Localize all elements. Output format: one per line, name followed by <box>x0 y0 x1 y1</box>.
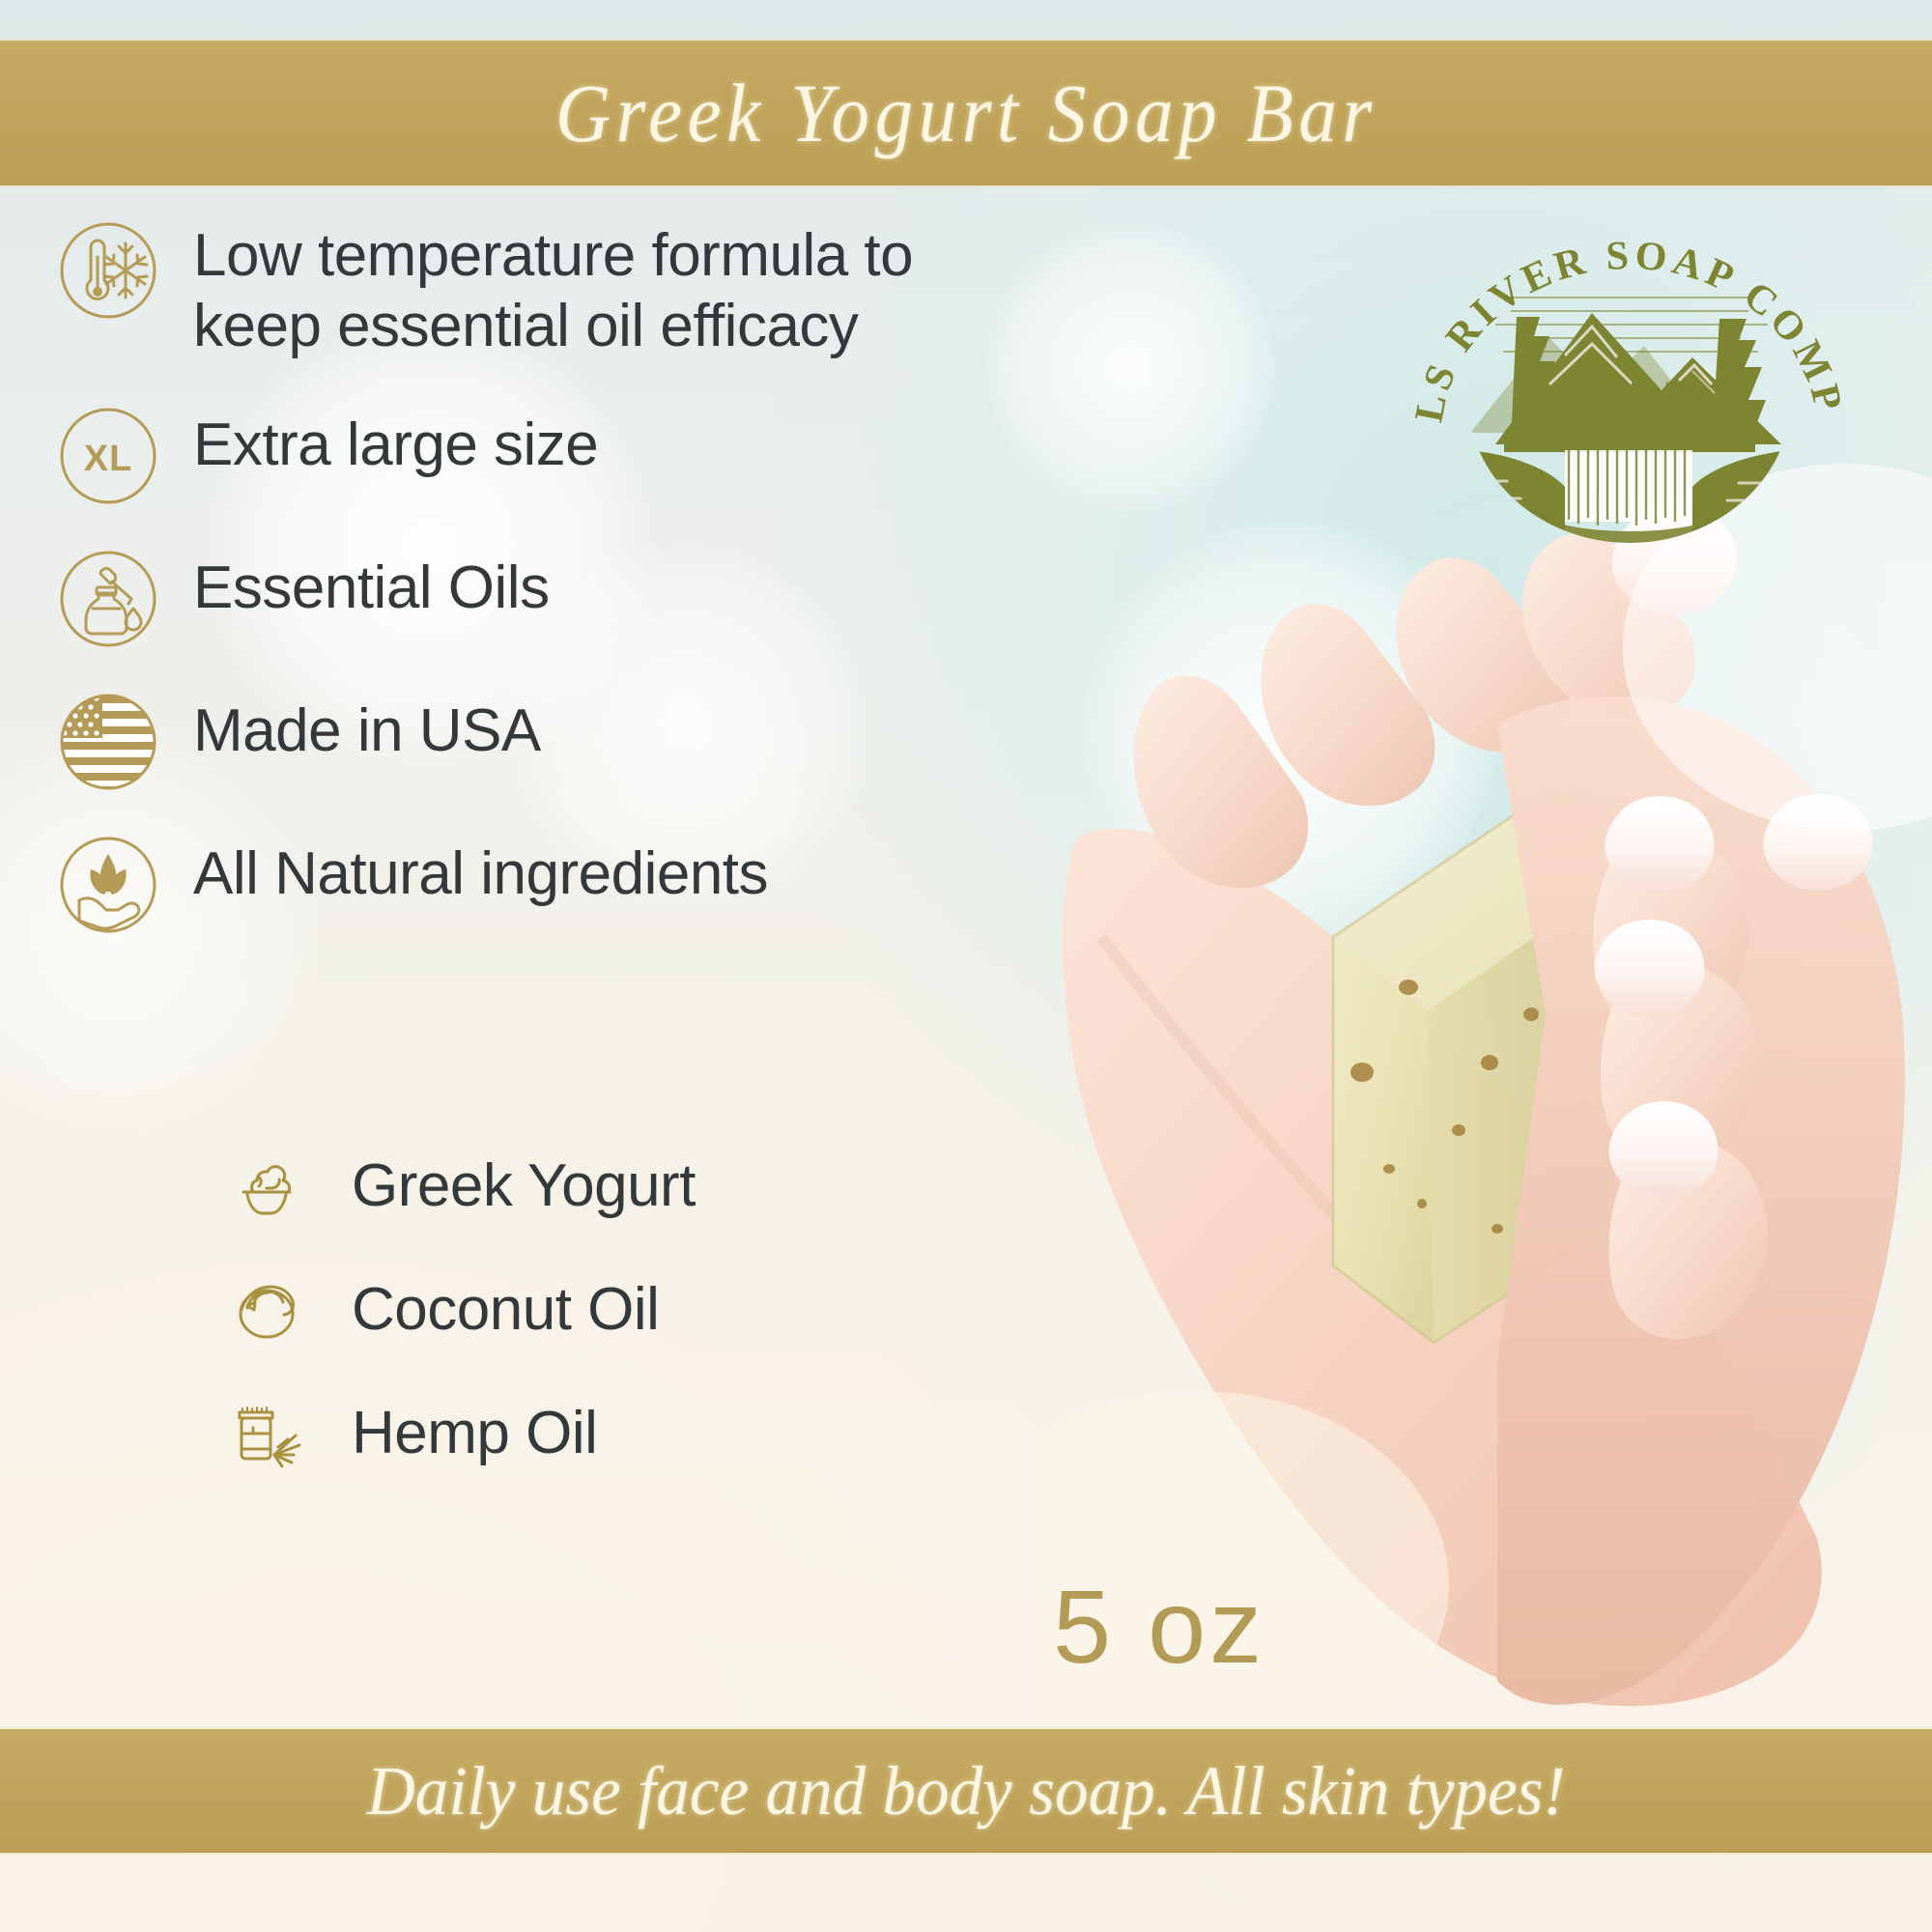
usa-flag-icon <box>58 692 158 792</box>
ingredient-label-coconut-oil: Coconut Oil <box>352 1280 659 1340</box>
xl-badge-text: XL <box>84 439 133 479</box>
xl-size-icon: XL <box>58 406 158 506</box>
ingredient-list: Greek Yogurt Coconut Oil <box>224 1144 1094 1515</box>
ingredient-item-coconut-oil: Coconut Oil <box>224 1267 1094 1352</box>
thermometer-snowflake-icon <box>58 220 158 321</box>
hemp-jar-icon <box>224 1391 309 1476</box>
coconut-icon <box>224 1267 309 1352</box>
product-infographic: Greek Yogurt Soap Bar <box>0 0 1932 1932</box>
feature-item-low-temperature: Low temperature formula to keep essentia… <box>58 220 1140 361</box>
feature-label-extra-large: Extra large size <box>193 406 598 480</box>
feature-item-made-in-usa: Made in USA <box>58 692 1140 792</box>
page-title: Greek Yogurt Soap Bar <box>555 65 1378 161</box>
feature-label-made-in-usa: Made in USA <box>193 692 541 766</box>
dropper-bottle-icon <box>58 549 158 649</box>
ingredient-label-greek-yogurt: Greek Yogurt <box>352 1156 696 1216</box>
feature-label-low-temperature: Low temperature formula to keep essentia… <box>193 220 913 361</box>
footer-tagline: Daily use face and body soap. All skin t… <box>367 1751 1566 1832</box>
product-photo-hands-holding-soap <box>1043 396 1932 1748</box>
feature-item-all-natural: All Natural ingredients <box>58 835 1140 935</box>
feature-label-all-natural: All Natural ingredients <box>193 835 768 909</box>
feature-item-extra-large: XL Extra large size <box>58 406 1140 506</box>
brand-logo: FALLS RIVER SOAP COMPANY <box>1403 191 1857 578</box>
feature-list: Low temperature formula to keep essentia… <box>58 220 1140 978</box>
feature-label-line1: Low temperature formula to <box>193 220 913 291</box>
ingredient-item-greek-yogurt: Greek Yogurt <box>224 1144 1094 1229</box>
feature-item-essential-oils: Essential Oils <box>58 549 1140 649</box>
ingredient-item-hemp-oil: Hemp Oil <box>224 1391 1094 1476</box>
header-banner: Greek Yogurt Soap Bar <box>0 41 1932 185</box>
product-weight: 5 oz <box>1053 1575 1265 1679</box>
feature-label-line2: keep essential oil efficacy <box>193 291 913 361</box>
hand-plant-icon <box>58 835 158 935</box>
footer-banner: Daily use face and body soap. All skin t… <box>0 1729 1932 1853</box>
yogurt-bowl-icon <box>224 1144 309 1229</box>
feature-label-essential-oils: Essential Oils <box>193 549 550 623</box>
ingredient-label-hemp-oil: Hemp Oil <box>352 1404 597 1463</box>
